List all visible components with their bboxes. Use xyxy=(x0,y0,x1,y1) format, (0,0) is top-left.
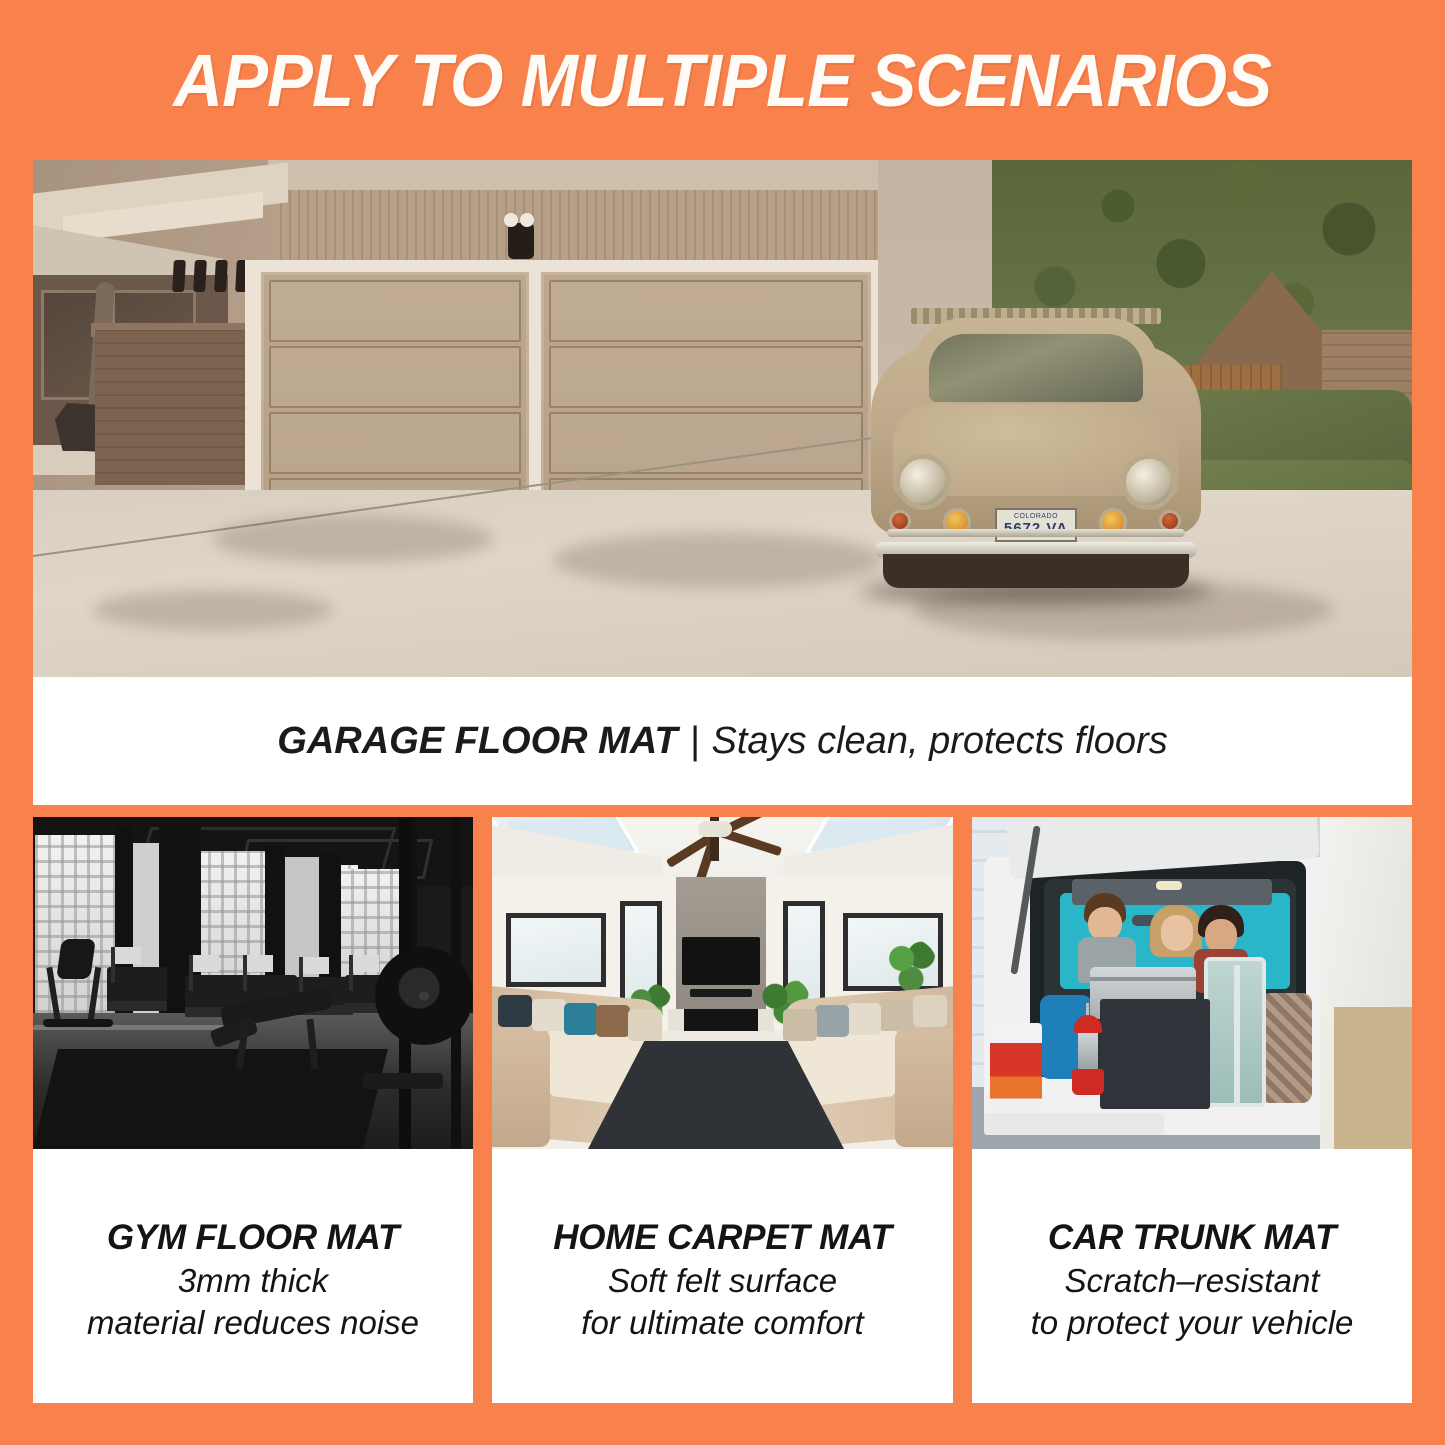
ceiling-fan-hub xyxy=(698,821,732,837)
throw-pillow xyxy=(879,999,913,1031)
weight-bench xyxy=(211,997,341,1069)
sofa-right-arm xyxy=(895,1029,953,1147)
scenario-card-home: HOME CARPET MAT Soft felt surface for ul… xyxy=(492,817,953,1403)
hero-panel: COLORADO 5672 VA GARAGE FLOOR MAT|Stays … xyxy=(33,160,1412,805)
roof-fascia xyxy=(268,160,878,190)
soundbar xyxy=(690,989,752,997)
brick-pillar xyxy=(95,330,253,485)
header-banner: APPLY TO MULTIPLE SCENARIOS xyxy=(0,0,1445,160)
infographic-page: APPLY TO MULTIPLE SCENARIOS xyxy=(0,0,1445,1445)
throw-pillow xyxy=(815,1005,849,1037)
throw-pillow xyxy=(596,1005,630,1037)
card-title: HOME CARPET MAT xyxy=(553,1217,892,1260)
security-light-icon xyxy=(508,223,534,259)
home-caption: HOME CARPET MAT Soft felt surface for ul… xyxy=(492,1149,953,1403)
sofa-left-arm xyxy=(492,1029,550,1147)
headlight-left xyxy=(895,454,951,510)
gym-scene xyxy=(33,817,473,1149)
scenario-card-trunk: CAR TRUNK MAT Scratch–resistant to prote… xyxy=(972,817,1412,1403)
card-subtitle-line2: for ultimate comfort xyxy=(581,1302,863,1344)
vintage-car: COLORADO 5672 VA xyxy=(871,286,1201,586)
hero-caption: GARAGE FLOOR MAT|Stays clean, protects f… xyxy=(33,677,1412,805)
card-subtitle-line1: 3mm thick xyxy=(178,1260,328,1302)
driveway-shadow xyxy=(553,532,883,588)
gym-photo xyxy=(33,817,473,1149)
page-title: APPLY TO MULTIPLE SCENARIOS xyxy=(174,38,1272,123)
trunk-caption: CAR TRUNK MAT Scratch–resistant to prote… xyxy=(972,1149,1412,1403)
scenario-card-gym: GYM FLOOR MAT 3mm thick material reduces… xyxy=(33,817,473,1403)
elliptical-machine xyxy=(43,939,113,1025)
car-lower-valance xyxy=(883,554,1189,588)
barbell-weight-plate xyxy=(375,947,473,1045)
card-subtitle-line1: Soft felt surface xyxy=(608,1260,837,1302)
driveway-shadow xyxy=(93,590,333,630)
living-room-scene xyxy=(492,817,953,1149)
throw-pillow xyxy=(564,1003,598,1035)
dumbbell xyxy=(363,1073,443,1089)
card-subtitle-line2: to protect your vehicle xyxy=(1031,1302,1354,1344)
throw-pillow xyxy=(913,995,947,1027)
scenario-card-row: GYM FLOOR MAT 3mm thick material reduces… xyxy=(33,817,1412,1403)
gym-caption: GYM FLOOR MAT 3mm thick material reduces… xyxy=(33,1149,473,1403)
fireplace-opening xyxy=(684,1009,758,1033)
teal-suitcase xyxy=(1204,957,1266,1107)
car-trunk-scene xyxy=(972,817,1412,1149)
plate-state: COLORADO xyxy=(1014,513,1058,520)
card-subtitle-line2: material reduces noise xyxy=(87,1302,419,1344)
tail-light xyxy=(990,1023,1042,1115)
driveway-shadow xyxy=(213,515,493,563)
headlight-right xyxy=(1121,454,1177,510)
throw-pillow xyxy=(628,1009,662,1041)
house-number xyxy=(173,260,248,292)
hero-caption-separator: | xyxy=(678,720,712,763)
card-title: GYM FLOOR MAT xyxy=(107,1217,399,1260)
wall-mounted-tv xyxy=(682,937,760,985)
living-room-window xyxy=(506,913,606,987)
rear-bumper xyxy=(984,1113,1164,1135)
windshield xyxy=(929,334,1143,402)
car-trunk-mat xyxy=(1100,999,1210,1109)
dome-light-icon xyxy=(1156,881,1182,890)
hero-caption-subtitle: Stays clean, protects floors xyxy=(712,720,1168,762)
hero-caption-title: GARAGE FLOOR MAT xyxy=(277,720,677,762)
throw-pillow xyxy=(783,1009,817,1041)
potted-plant xyxy=(885,939,937,993)
treadmill xyxy=(107,967,167,1011)
card-subtitle-line1: Scratch–resistant xyxy=(1065,1260,1320,1302)
throw-pillow xyxy=(532,999,566,1031)
throw-pillow xyxy=(498,995,532,1027)
hero-caption-line: GARAGE FLOOR MAT|Stays clean, protects f… xyxy=(277,720,1167,763)
folded-quilt xyxy=(1260,993,1312,1103)
person-trousers xyxy=(1334,1007,1412,1149)
bumper-overrider xyxy=(887,529,1185,537)
car-trunk-photo xyxy=(972,817,1412,1149)
camping-lantern xyxy=(1072,1015,1104,1095)
card-title: CAR TRUNK MAT xyxy=(1048,1217,1336,1260)
throw-pillow xyxy=(847,1003,881,1035)
garage-photo: COLORADO 5672 VA xyxy=(33,160,1412,677)
living-room-photo xyxy=(492,817,953,1149)
